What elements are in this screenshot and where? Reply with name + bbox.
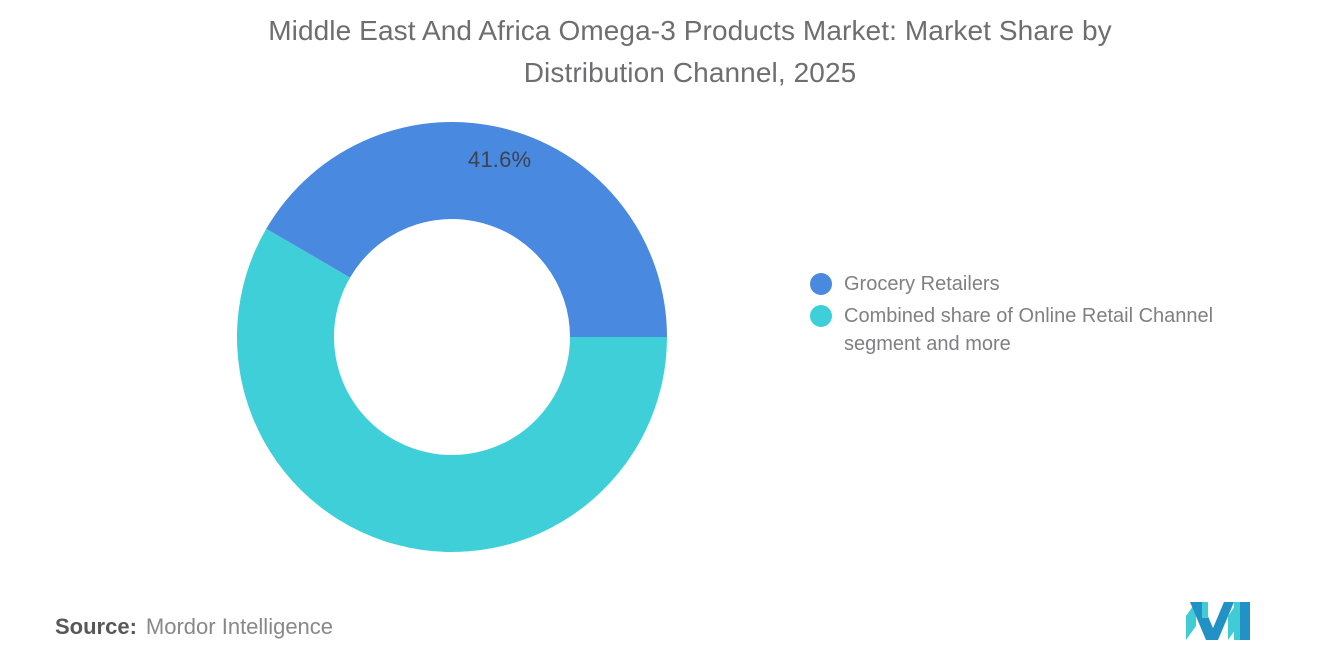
- legend-item-label-line-2: segment and more: [844, 333, 1011, 355]
- donut-slice-label-grocery-retailers: 41.6%: [440, 147, 560, 173]
- legend-item-online-retail-combined[interactable]: Combined share of Online Retail Channel …: [810, 302, 1280, 358]
- legend-item-label-line-1: Combined share of Online Retail Channel: [844, 305, 1213, 327]
- donut-chart-svg: [237, 122, 667, 552]
- legend-item-label: Combined share of Online Retail Channel …: [844, 302, 1213, 358]
- source-line: Source:Mordor Intelligence: [55, 611, 333, 643]
- legend-item-label: Grocery Retailers: [844, 270, 1000, 298]
- mordor-intelligence-logo-icon: [1184, 598, 1252, 640]
- page-title-line-1: Middle East And Africa Omega-3 Products …: [200, 10, 1180, 52]
- source-label: Source:: [55, 614, 137, 639]
- page-title-line-2: Distribution Channel, 2025: [200, 52, 1180, 94]
- chart-legend: Grocery Retailers Combined share of Onli…: [810, 270, 1280, 362]
- legend-swatch-icon: [810, 273, 832, 295]
- donut-chart: 41.6%: [237, 122, 667, 552]
- legend-swatch-icon: [810, 305, 832, 327]
- source-value: Mordor Intelligence: [146, 614, 333, 639]
- page-title: Middle East And Africa Omega-3 Products …: [200, 10, 1180, 94]
- legend-item-grocery-retailers[interactable]: Grocery Retailers: [810, 270, 1280, 298]
